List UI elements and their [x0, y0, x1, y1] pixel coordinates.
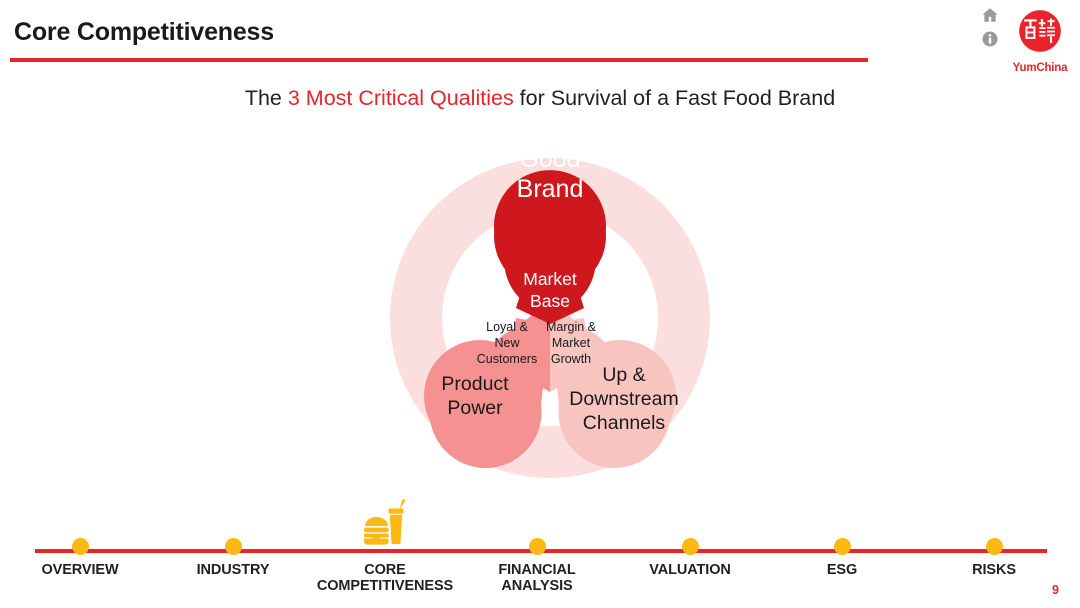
yumchina-wordmark: YumChina [1008, 62, 1072, 74]
core-competitiveness-diagram: Good Brand Market Base Loyal & New Custo… [330, 118, 770, 488]
slide-subtitle: The 3 Most Critical Qualities for Surviv… [0, 86, 1080, 111]
product-power-line1: Product [441, 373, 509, 395]
header-divider [10, 58, 868, 62]
loyal-new-customers-line2: New [494, 336, 520, 350]
nav-dot-icon [529, 538, 546, 555]
nav-label-line2: ANALYSIS [442, 578, 632, 594]
nav-dot-icon [682, 538, 699, 555]
page-number: 9 [1052, 583, 1059, 597]
burger-drink-icon [358, 498, 412, 550]
market-base-line2: Base [530, 291, 570, 311]
info-icon[interactable] [981, 30, 999, 48]
margin-market-growth-line1: Margin & [546, 320, 597, 334]
product-power-line2: Power [447, 397, 503, 419]
good-brand-line2: Brand [517, 175, 584, 203]
nav-dot-icon [834, 538, 851, 555]
yumchina-logo[interactable]: YumChina [1008, 6, 1072, 74]
up-downstream-line3: Channels [583, 412, 666, 434]
page-title: Core Competitiveness [14, 18, 274, 47]
market-base-line1: Market [523, 269, 577, 289]
subtitle-prefix: The [245, 86, 288, 110]
nav-label-line1: RISKS [899, 562, 1080, 578]
loyal-new-customers-line1: Loyal & [486, 320, 528, 334]
margin-market-growth-line2: Market [552, 336, 591, 350]
nav-dot-icon [225, 538, 242, 555]
home-icon[interactable] [981, 6, 999, 24]
slide: Core Competitiveness [0, 0, 1080, 608]
nav-dot-icon [72, 538, 89, 555]
yumchina-seal-icon [1008, 6, 1072, 61]
nav-dot-icon [986, 538, 1003, 555]
margin-market-growth-line3: Growth [551, 352, 591, 366]
up-downstream-line2: Downstream [569, 388, 678, 410]
loyal-new-customers-line3: Customers [477, 352, 537, 366]
up-downstream-line1: Up & [602, 364, 645, 386]
good-brand-line1: Good [519, 145, 580, 173]
node-label-margin-market-growth: Margin & Market Growth [546, 320, 597, 366]
subtitle-suffix: for Survival of a Fast Food Brand [514, 86, 835, 110]
nav-item-risks[interactable]: RISKS [899, 535, 1080, 578]
utility-icon-group [977, 6, 1003, 48]
subtitle-highlight: 3 Most Critical Qualities [288, 86, 514, 110]
